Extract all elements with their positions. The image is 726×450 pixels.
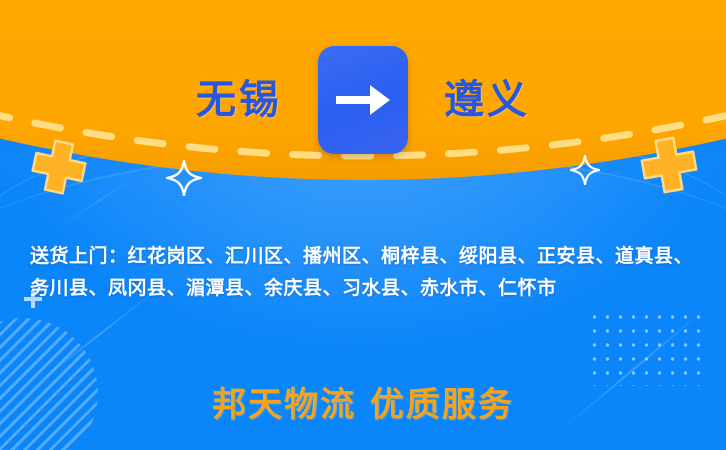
arrow-right-icon: [334, 81, 392, 119]
route-arrow-box: [318, 46, 408, 154]
route-row: 无锡 遵义: [0, 0, 726, 200]
company-slogan: 邦天物流 优质服务: [0, 377, 726, 426]
coverage-area-text: 送货上门：红花岗区、汇川区、播州区、桐梓县、绥阳县、正安县、道真县、务川县、凤冈…: [0, 240, 726, 304]
dot-grid-decoration: [588, 310, 708, 386]
slogan-text: 邦天物流 优质服务: [212, 385, 514, 425]
destination-city-label: 遵义: [444, 80, 530, 120]
origin-city-label: 无锡: [196, 80, 282, 120]
logistics-route-banner: 无锡 遵义 送货上门：红花岗区、汇川区、播州区、桐梓县、绥阳县、正安县、道真县、…: [0, 0, 726, 450]
coverage-text-content: 送货上门：红花岗区、汇川区、播州区、桐梓县、绥阳县、正安县、道真县、务川县、凤冈…: [30, 245, 693, 299]
